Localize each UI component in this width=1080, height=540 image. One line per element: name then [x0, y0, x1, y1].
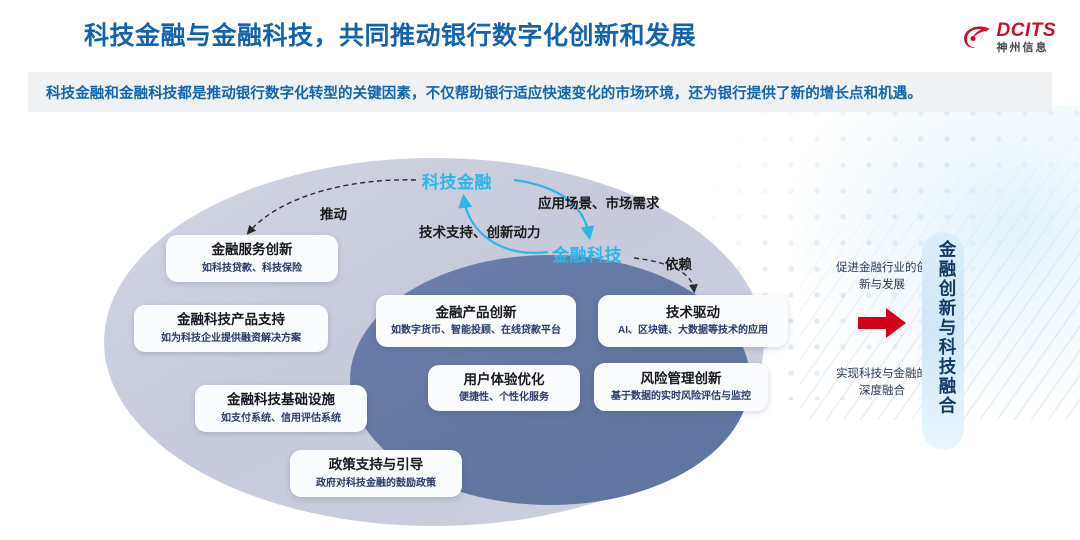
card-desc: 基于数据的实时风险评估与监控 — [611, 390, 751, 403]
concept-label-fintech: 金融科技 — [552, 241, 622, 266]
card-desc: 便捷性、个性化服务 — [459, 391, 549, 404]
card-title: 金融服务创新 — [212, 242, 293, 259]
subtitle-banner: 科技金融和金融科技都是推动银行数字化转型的关键因素，不仅帮助银行适应快速变化的市… — [28, 72, 1052, 112]
card-financial-product-innovation[interactable]: 金融产品创新 如数字货币、智能投顾、在线贷款平台 — [376, 295, 576, 347]
card-risk-management-innovation[interactable]: 风险管理创新 基于数据的实时风险评估与监控 — [594, 363, 768, 411]
card-desc: 如数字货币、智能投顾、在线贷款平台 — [391, 324, 561, 337]
card-financial-service-innovation[interactable]: 金融服务创新 如科技贷款、科技保险 — [166, 235, 338, 282]
card-title: 金融科技基础设施 — [227, 392, 335, 409]
card-fintech-infrastructure[interactable]: 金融科技基础设施 如支付系统、信用评估系统 — [195, 385, 367, 432]
dcits-swirl-icon — [961, 22, 991, 52]
card-fintech-product-support[interactable]: 金融科技产品支持 如为科技企业提供融资解决方案 — [134, 305, 328, 352]
summary-pill-text: 金融创新与科技融合 — [930, 240, 956, 416]
card-desc: 如支付系统、信用评估系统 — [221, 412, 341, 425]
card-title: 用户体验优化 — [464, 372, 545, 389]
card-title: 政策支持与引导 — [329, 457, 424, 474]
page-title: 科技金融与金融科技，共同推动银行数字化创新和发展 — [84, 16, 696, 52]
relation-label-scenario-demand: 应用场景、市场需求 — [538, 192, 660, 212]
brand-logo: DCITS 神州信息 — [961, 16, 1057, 58]
card-title: 金融产品创新 — [436, 305, 517, 322]
right-arrow-icon — [856, 305, 908, 341]
logo-en-text: DCITS — [997, 21, 1057, 40]
card-user-experience-optimization[interactable]: 用户体验优化 便捷性、个性化服务 — [428, 365, 580, 411]
relation-label-drive: 推动 — [320, 203, 347, 223]
side-note-top: 促进金融行业的创新与发展 — [836, 260, 928, 293]
concept-label-tech-finance: 科技金融 — [422, 168, 492, 193]
card-desc: 如科技贷款、科技保险 — [202, 262, 302, 275]
card-policy-support[interactable]: 政策支持与引导 政府对科技金融的鼓励政策 — [290, 450, 462, 497]
logo-cn-text: 神州信息 — [997, 43, 1057, 54]
card-desc: 如为科技企业提供融资解决方案 — [161, 332, 301, 345]
card-desc: 政府对科技金融的鼓励政策 — [316, 477, 436, 490]
card-desc: AI、区块链、大数据等技术的应用 — [618, 324, 768, 337]
card-title: 风险管理创新 — [641, 371, 722, 388]
slide-canvas: 科技金融与金融科技，共同推动银行数字化创新和发展 DCITS 神州信息 科技金融… — [0, 0, 1080, 540]
card-technology-driven[interactable]: 技术驱动 AI、区块链、大数据等技术的应用 — [598, 295, 788, 347]
side-note-bottom: 实现科技与金融的深度融合 — [836, 366, 928, 399]
logo-wordmark: DCITS 神州信息 — [997, 21, 1057, 54]
relation-label-tech-support: 技术支持、创新动力 — [419, 221, 541, 241]
card-title: 技术驱动 — [666, 305, 720, 322]
subtitle-text: 科技金融和金融科技都是推动银行数字化转型的关键因素，不仅帮助银行适应快速变化的市… — [28, 82, 922, 103]
card-title: 金融科技产品支持 — [177, 312, 285, 329]
relation-label-depend: 依赖 — [665, 253, 692, 273]
